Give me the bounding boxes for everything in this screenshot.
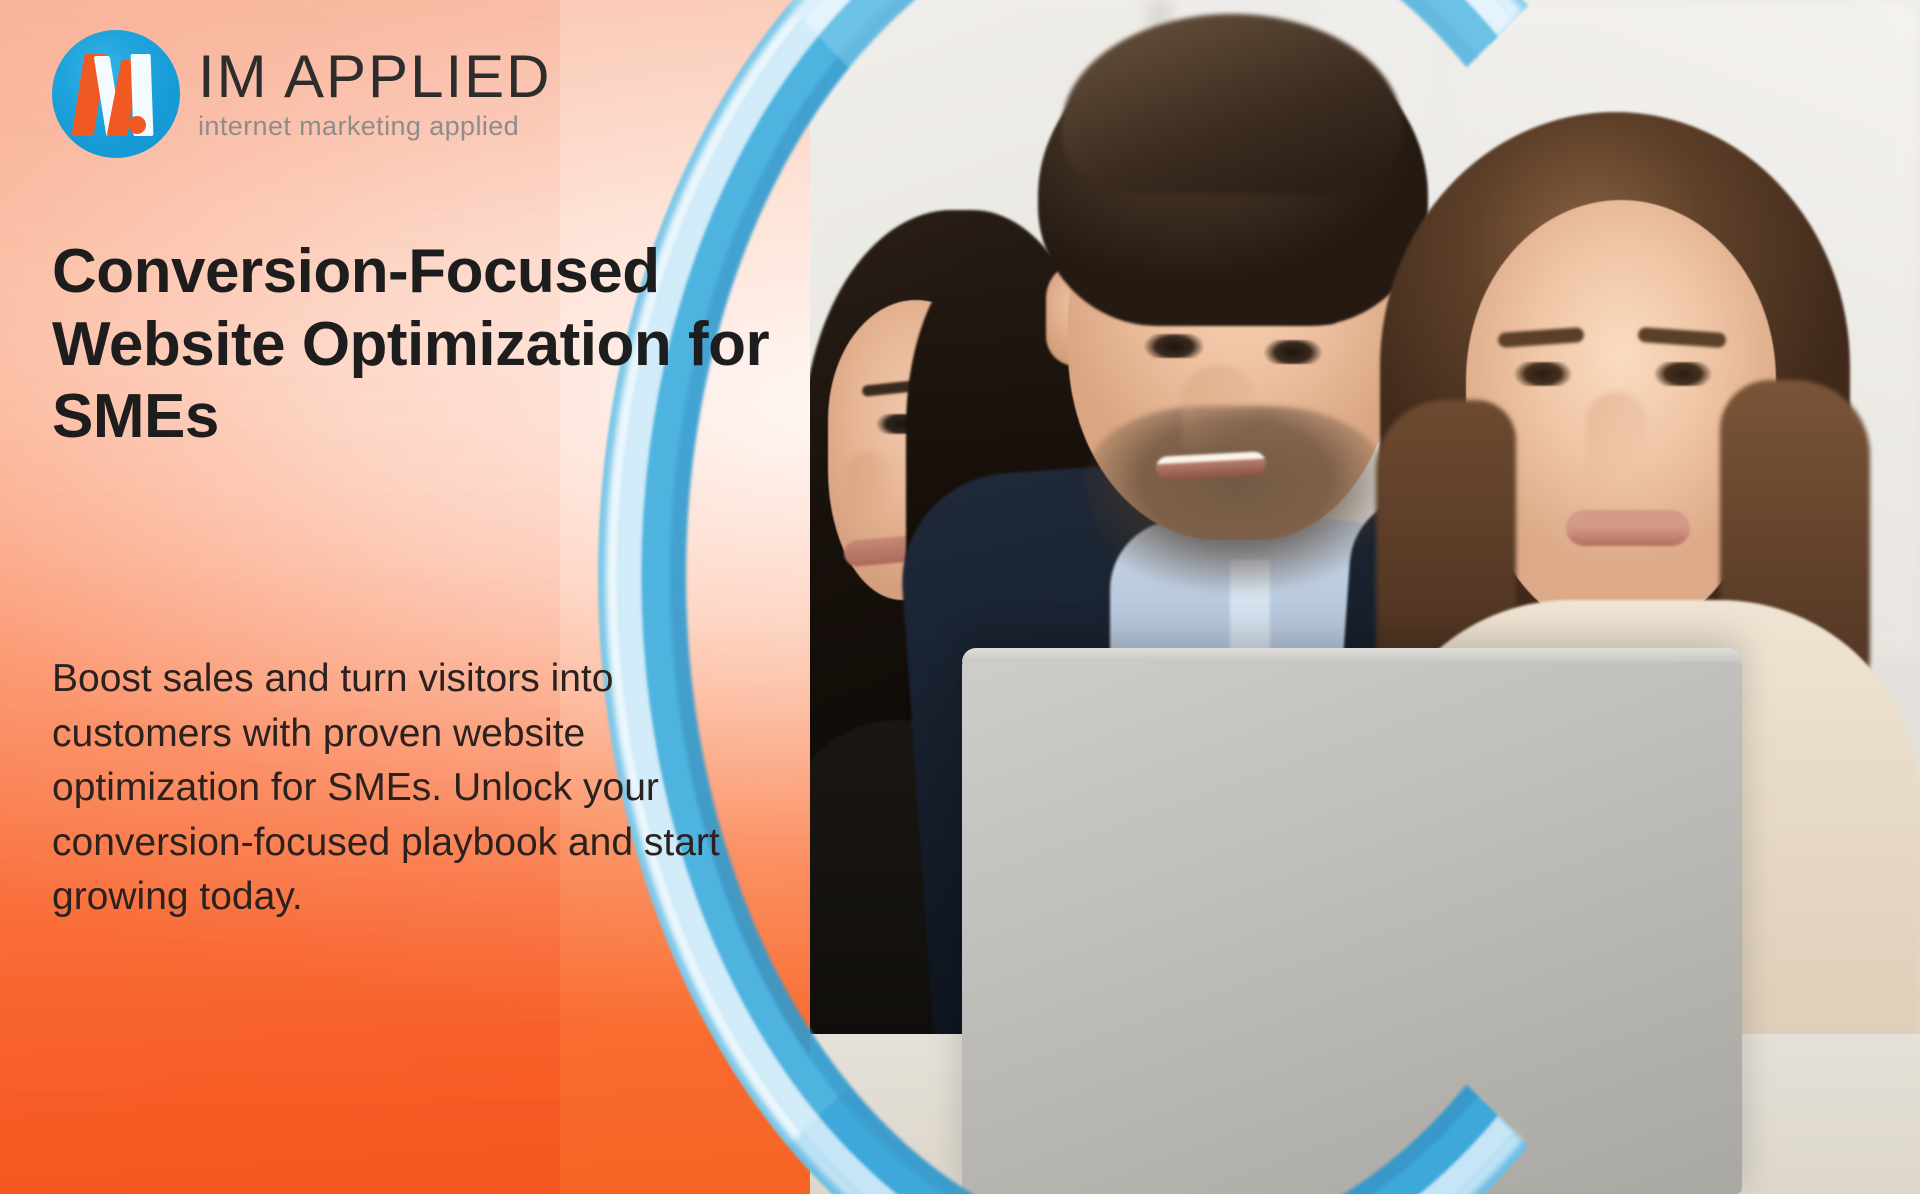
brand-tagline: internet marketing applied [198,111,551,142]
laptop-lid-edge [962,648,1742,662]
laptop-lid [962,648,1742,1194]
im-applied-monogram-icon [52,30,180,158]
person-center-nose [1182,366,1256,470]
person-center-eye-right [1262,340,1324,364]
marketing-banner: IM APPLIED internet marketing applied Co… [0,0,1920,1194]
person-right-eye-left [1510,362,1576,386]
brand-logo[interactable]: IM APPLIED internet marketing applied [52,30,551,158]
monogram-dot [128,116,146,134]
person-left-nose [846,452,890,514]
hero-content: IM APPLIED internet marketing applied Co… [0,0,820,1194]
person-right-nose [1586,392,1646,498]
hero-photo [810,0,1920,1194]
hero-subcopy: Boost sales and turn visitors into custo… [52,652,752,925]
person-center-eye-left [1142,334,1206,358]
brand-lockup-text: IM APPLIED internet marketing applied [198,46,551,142]
person-right-lips [1566,510,1690,546]
person-right-eye-right [1650,362,1716,386]
photo-backdrop [810,0,1920,1194]
page-title: Conversion-Focused Website Optimization … [52,236,792,454]
brand-name: IM APPLIED [198,46,551,107]
